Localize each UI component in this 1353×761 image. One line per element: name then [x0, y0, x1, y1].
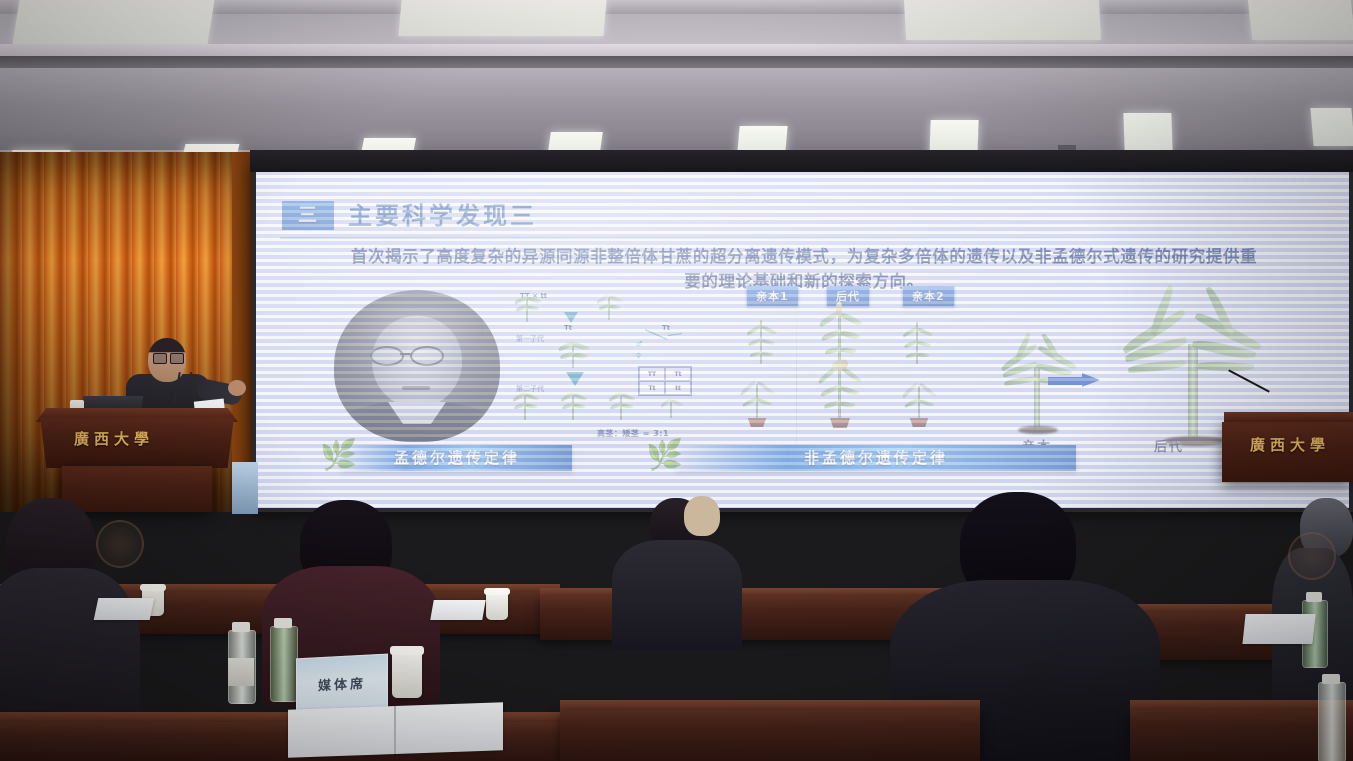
tag-parent-2: 亲本2 — [902, 286, 955, 307]
ceiling-light-panel — [1248, 0, 1353, 40]
mendel-portrait — [334, 290, 500, 442]
desk-row-front — [560, 710, 980, 761]
cross-f1-label: 第一子代 — [516, 334, 544, 344]
punnett-cell: tt — [665, 381, 691, 395]
punnett-cell: Tt — [665, 367, 691, 381]
water-bottle — [1318, 682, 1346, 761]
speaker-hand — [228, 380, 246, 396]
gamete-symbol-male: ♂ — [636, 340, 642, 348]
desk-cup-lid — [140, 584, 166, 591]
cane-label-offspring: 后代 — [1154, 436, 1184, 455]
ceiling-light-panel — [904, 0, 1101, 40]
phenotype-ratio: 高茎：矮茎 = 3:1 — [538, 428, 728, 439]
screen-top-shadow — [250, 150, 1353, 172]
laurel-right-icon: 🌿 — [646, 436, 680, 476]
punnett-cell: TT — [639, 367, 665, 381]
ceiling-light-panel — [13, 0, 215, 44]
portrait-mouth — [402, 386, 430, 390]
ceiling-beam-shadow — [0, 56, 1353, 68]
punnett-square: TT Tt Tt tt — [638, 366, 692, 396]
right-banner: 非孟德尔遗传定律 — [676, 445, 1076, 471]
left-banner: 孟德尔遗传定律 — [342, 445, 572, 471]
ceiling-light-panel — [398, 0, 606, 36]
wall-light — [1123, 113, 1172, 151]
portrait-glasses-left — [370, 346, 404, 366]
desk-cup-front — [392, 652, 422, 698]
desk-cup-lid — [484, 588, 510, 595]
gamete-source: Tt — [662, 324, 670, 332]
slide-number-badge: 三 — [282, 201, 334, 230]
bottle-cap — [274, 618, 292, 628]
desk-emblem — [1288, 532, 1336, 580]
slide-body-text: 首次揭示了高度复杂的异源同源非整倍体甘蔗的超分离遗传模式，为复杂多倍体的遗传以及… — [344, 244, 1264, 294]
tag-parent-1: 亲本1 — [746, 286, 799, 307]
podium-left-base — [62, 466, 212, 512]
desk-paper — [94, 598, 155, 620]
conference-photo: 三 主要科学发现三 首次揭示了高度复杂的异源同源非整倍体甘蔗的超分离遗传模式，为… — [0, 0, 1353, 761]
bottle-cap — [1322, 674, 1340, 684]
bottle-label — [228, 658, 254, 686]
tag-offspring: 后代 — [826, 286, 870, 307]
wall-light — [1310, 108, 1353, 146]
desk-paper — [430, 600, 486, 620]
podium-left-panel — [232, 462, 258, 514]
cross-arrow-f2 — [566, 372, 584, 386]
portrait-glasses-bridge — [400, 353, 410, 355]
cross-f1-genotype: Tt — [564, 324, 572, 332]
gamete-symbol-female: ♀ — [636, 352, 641, 360]
media-seat-placard: 媒体席 — [296, 654, 388, 713]
water-bottle-green — [270, 626, 298, 702]
punnett-cell: Tt — [639, 381, 665, 395]
document-spine — [394, 706, 396, 754]
desk-cup-lid — [390, 646, 424, 655]
desk-cup — [486, 592, 508, 620]
bottle-cap — [232, 622, 250, 632]
mendel-cross-diagram: TT × tt Tt 第一子代 — [518, 288, 728, 438]
desk-emblem — [96, 520, 144, 568]
speaker-glasses-right — [170, 353, 184, 364]
bottle-cap — [1306, 592, 1322, 602]
title-divider — [280, 237, 1326, 239]
cross-f2-label: 第二子代 — [516, 384, 544, 394]
podium-left-label: 廣西大學 — [74, 428, 154, 449]
podium-right-label: 廣西大學 — [1250, 434, 1330, 455]
portrait-glasses-right — [410, 346, 444, 366]
transformation-arrow-icon — [1048, 373, 1100, 387]
desk-paper — [1242, 614, 1315, 644]
cross-arrow-f1 — [564, 312, 578, 323]
projection-screen: 三 主要科学发现三 首次揭示了高度复杂的异源同源非整倍体甘蔗的超分离遗传模式，为… — [256, 168, 1349, 508]
speaker-glasses-left — [153, 353, 167, 364]
media-seat-label: 媒体席 — [318, 672, 366, 694]
slide-title: 主要科学发现三 — [348, 196, 537, 231]
